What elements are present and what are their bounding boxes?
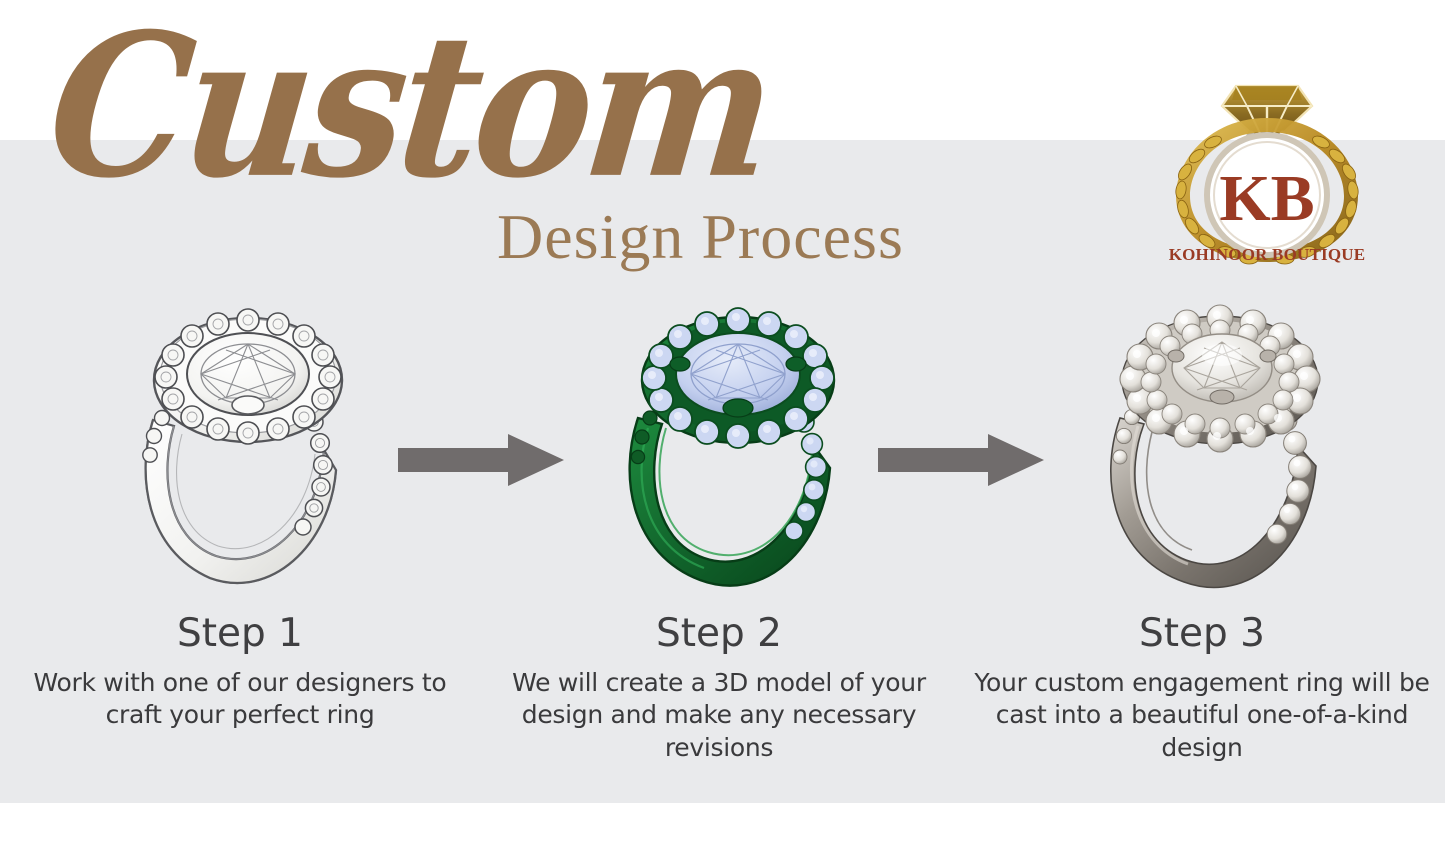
logo-wordmark: KOHINOOR BOUTIQUE (1152, 245, 1382, 265)
step-2-description: We will create a 3D model of your design… (484, 667, 954, 765)
background-band-bottom (0, 803, 1445, 848)
sketch-ring-icon (118, 300, 378, 590)
step-1-ring-image (118, 300, 378, 590)
infographic-canvas: Custom Design Process (0, 0, 1445, 848)
cad-ring-icon (608, 300, 868, 590)
arrow-step2-to-step3 (876, 432, 1046, 488)
step-3-block: Step 3 Your custom engagement ring will … (967, 612, 1437, 764)
step-1-description: Work with one of our designers to craft … (5, 667, 475, 732)
logo-monogram-text: KB (1219, 162, 1314, 235)
step-3-description: Your custom engagement ring will be cast… (967, 667, 1437, 765)
step-2-block: Step 2 We will create a 3D model of your… (484, 612, 954, 764)
step-3-ring-image (1090, 300, 1350, 590)
page-title-serif: Design Process (497, 205, 904, 269)
right-arrow-icon (396, 432, 566, 488)
step-2-title: Step 2 (484, 612, 954, 657)
finished-ring-icon (1090, 300, 1350, 590)
right-arrow-icon (876, 432, 1046, 488)
step-3-title: Step 3 (967, 612, 1437, 657)
step-1-block: Step 1 Work with one of our designers to… (5, 612, 475, 732)
brand-logo[interactable]: KB KOHINOOR BOUTIQUE (1152, 62, 1382, 282)
step-2-ring-image (608, 300, 868, 590)
step-1-title: Step 1 (5, 612, 475, 657)
arrow-step1-to-step2 (396, 432, 566, 488)
page-title-script: Custom (41, 8, 778, 205)
